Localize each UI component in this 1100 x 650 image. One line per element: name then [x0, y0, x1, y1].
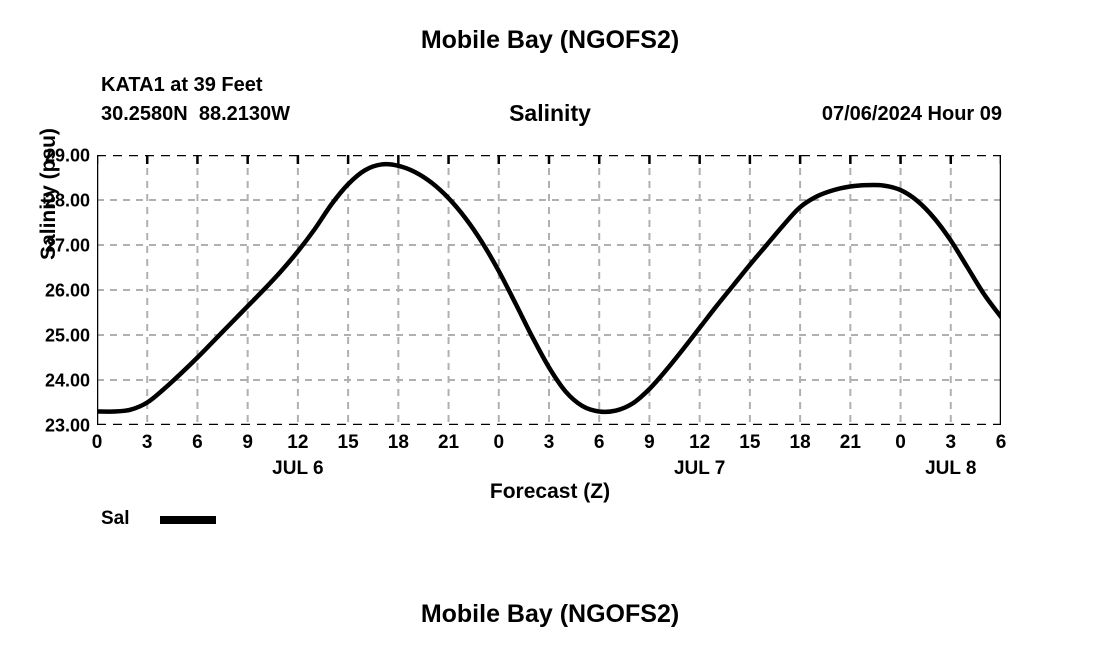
x-tick-label: 18	[388, 432, 409, 454]
x-tick-label: 0	[92, 432, 103, 454]
legend-label: Sal	[101, 508, 130, 530]
y-tick-label: 29.00	[0, 146, 90, 167]
x-tick-label: 21	[438, 432, 459, 454]
x-tick-label: 18	[790, 432, 811, 454]
y-tick-label: 26.00	[0, 281, 90, 302]
x-tick-label: 0	[895, 432, 906, 454]
x-tick-label: 21	[840, 432, 861, 454]
x-day-label: JUL 7	[674, 458, 725, 480]
x-day-label: JUL 6	[272, 458, 323, 480]
x-day-label: JUL 8	[925, 458, 976, 480]
y-tick-label: 27.00	[0, 236, 90, 257]
x-tick-label: 6	[594, 432, 605, 454]
x-tick-label: 3	[544, 432, 555, 454]
x-tick-label: 6	[192, 432, 203, 454]
legend-line-swatch	[160, 516, 216, 524]
x-tick-label: 12	[689, 432, 710, 454]
salinity-line-chart	[97, 155, 1001, 425]
x-tick-label: 12	[287, 432, 308, 454]
x-tick-label: 9	[242, 432, 253, 454]
x-tick-label: 3	[142, 432, 153, 454]
y-tick-label: 23.00	[0, 416, 90, 437]
x-tick-label: 15	[338, 432, 359, 454]
x-tick-label: 3	[945, 432, 956, 454]
y-tick-label: 28.00	[0, 191, 90, 212]
x-tick-label: 6	[996, 432, 1007, 454]
x-tick-label: 9	[644, 432, 655, 454]
forecast-timestamp: 07/06/2024 Hour 09	[822, 103, 1002, 126]
page-title: Mobile Bay (NGOFS2)	[0, 26, 1100, 55]
x-tick-label: 0	[493, 432, 504, 454]
y-tick-label: 25.00	[0, 326, 90, 347]
x-axis-label: Forecast (Z)	[0, 480, 1100, 504]
station-label: KATA1 at 39 Feet	[101, 74, 263, 97]
y-tick-label: 24.00	[0, 371, 90, 392]
x-tick-label: 15	[739, 432, 760, 454]
footer-title: Mobile Bay (NGOFS2)	[0, 600, 1100, 629]
